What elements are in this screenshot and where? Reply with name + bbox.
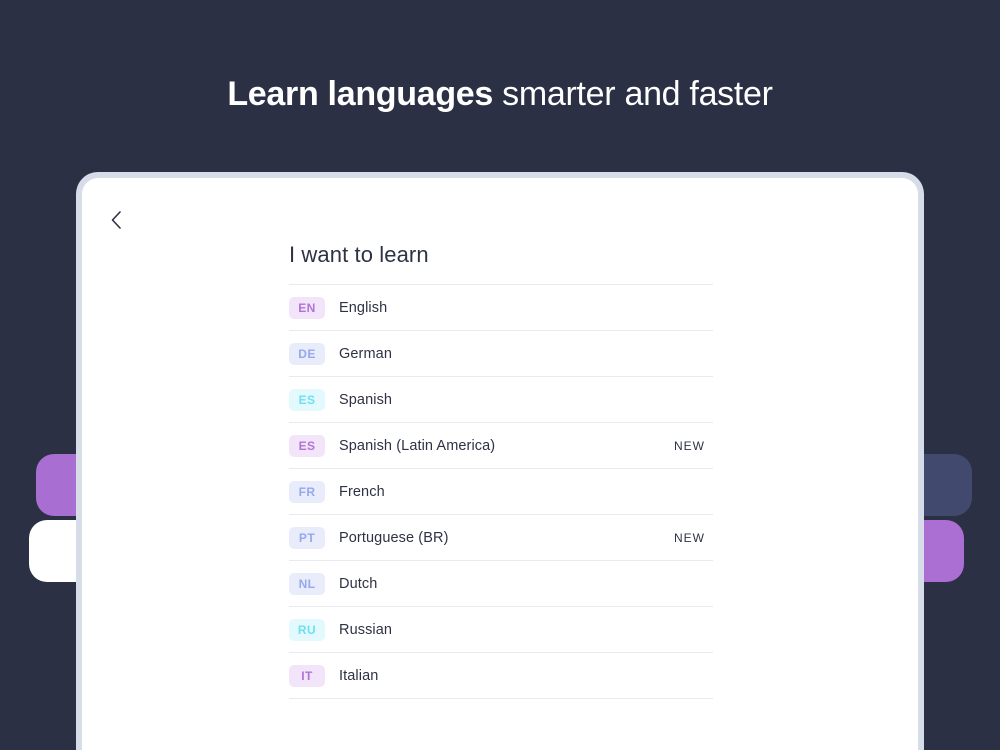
headline-light: smarter and faster: [493, 75, 773, 113]
list-item[interactable]: ENEnglish: [289, 285, 713, 331]
language-name: Spanish (Latin America): [339, 438, 674, 454]
list-item[interactable]: FRFrench: [289, 469, 713, 515]
language-code-badge: ES: [289, 389, 325, 411]
language-name: Portuguese (BR): [339, 530, 674, 546]
language-name: Russian: [339, 622, 713, 638]
language-code-badge: EN: [289, 297, 325, 319]
device-frame: I want to learn ENEnglishDEGermanESSpani…: [76, 172, 924, 750]
language-list: ENEnglishDEGermanESSpanishESSpanish (Lat…: [289, 284, 713, 699]
language-code-badge: NL: [289, 573, 325, 595]
language-name: English: [339, 300, 713, 316]
new-badge: NEW: [674, 531, 705, 545]
page-title: I want to learn: [289, 240, 713, 270]
page-headline: Learn languages smarter and faster: [0, 72, 1000, 116]
language-code-badge: PT: [289, 527, 325, 549]
new-badge: NEW: [674, 439, 705, 453]
list-item[interactable]: DEGerman: [289, 331, 713, 377]
list-item[interactable]: ESSpanish (Latin America)NEW: [289, 423, 713, 469]
language-name: Italian: [339, 668, 713, 684]
list-item[interactable]: PTPortuguese (BR)NEW: [289, 515, 713, 561]
back-button[interactable]: [96, 200, 136, 240]
chevron-left-icon: [110, 210, 122, 230]
language-name: Dutch: [339, 576, 713, 592]
learn-panel: I want to learn ENEnglishDEGermanESSpani…: [289, 240, 713, 699]
language-code-badge: FR: [289, 481, 325, 503]
list-item[interactable]: RURussian: [289, 607, 713, 653]
language-code-badge: IT: [289, 665, 325, 687]
list-item[interactable]: NLDutch: [289, 561, 713, 607]
language-code-badge: ES: [289, 435, 325, 457]
language-code-badge: RU: [289, 619, 325, 641]
language-code-badge: DE: [289, 343, 325, 365]
list-item[interactable]: ESSpanish: [289, 377, 713, 423]
headline-strong: Learn languages: [227, 75, 493, 113]
language-name: French: [339, 484, 713, 500]
language-name: Spanish: [339, 392, 713, 408]
list-item[interactable]: ITItalian: [289, 653, 713, 699]
language-name: German: [339, 346, 713, 362]
